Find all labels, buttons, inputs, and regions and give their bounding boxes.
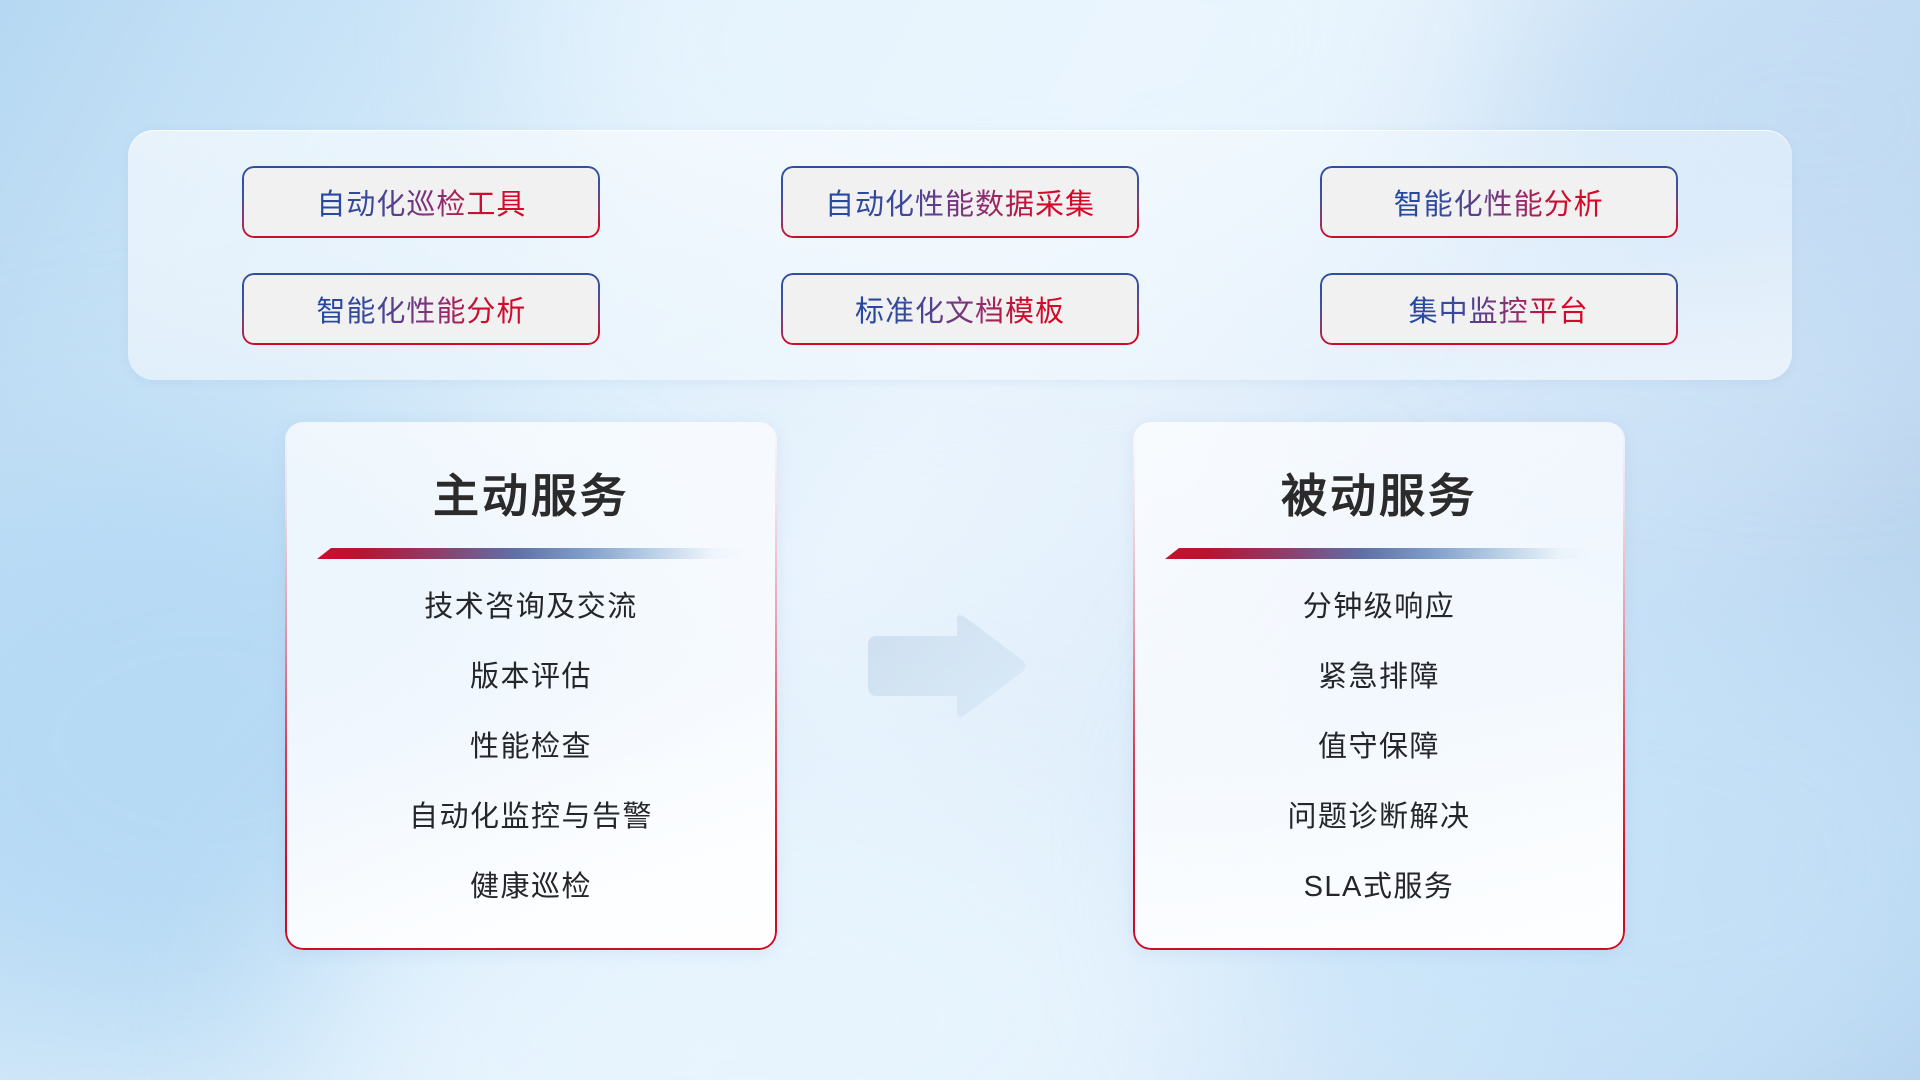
list-item: 分钟级响应 — [1133, 593, 1625, 622]
list-item: 值守保障 — [1133, 733, 1625, 762]
service-item-list: 技术咨询及交流 版本评估 性能检查 自动化监控与告警 健康巡检 — [285, 559, 777, 902]
capability-tag-label: 智能化性能分析 — [1394, 181, 1604, 223]
service-card-proactive[interactable]: 主动服务 技术咨询及交流 版本评估 性能检查 自动化监控与告警 健康巡检 — [285, 422, 777, 950]
capability-tag-label: 标准化文档模板 — [855, 288, 1065, 330]
capability-tag[interactable]: 自动化性能数据采集 — [781, 166, 1139, 238]
card-title: 主动服务 — [285, 422, 777, 526]
capability-tag[interactable]: 智能化性能分析 — [1320, 166, 1678, 238]
capability-tags-panel: 自动化巡检工具 自动化性能数据采集 智能化性能分析 智能化性能分析 标准化文档模… — [128, 130, 1792, 380]
capability-tag-label: 智能化性能分析 — [316, 288, 526, 330]
capability-tag[interactable]: 集中监控平台 — [1320, 273, 1678, 345]
title-divider — [1165, 548, 1593, 559]
list-item: SLA式服务 — [1133, 873, 1625, 902]
capability-tag[interactable]: 标准化文档模板 — [781, 273, 1139, 345]
list-item: 性能检查 — [285, 733, 777, 762]
list-item: 问题诊断解决 — [1133, 803, 1625, 832]
card-title: 被动服务 — [1133, 422, 1625, 526]
capability-tag[interactable]: 智能化性能分析 — [242, 273, 600, 345]
service-item-list: 分钟级响应 紧急排障 值守保障 问题诊断解决 SLA式服务 — [1133, 559, 1625, 902]
list-item: 紧急排障 — [1133, 663, 1625, 692]
capability-tag[interactable]: 自动化巡检工具 — [242, 166, 600, 238]
list-item: 健康巡检 — [285, 873, 777, 902]
service-card-reactive[interactable]: 被动服务 分钟级响应 紧急排障 值守保障 问题诊断解决 SLA式服务 — [1133, 422, 1625, 950]
capability-tag-label: 自动化性能数据采集 — [825, 181, 1095, 223]
slide-canvas: 自动化巡检工具 自动化性能数据采集 智能化性能分析 智能化性能分析 标准化文档模… — [0, 0, 1920, 1080]
list-item: 技术咨询及交流 — [285, 593, 777, 622]
title-divider — [317, 548, 745, 559]
capability-tag-label: 集中监控平台 — [1409, 288, 1589, 330]
arrow-right-icon — [862, 612, 1028, 720]
list-item: 自动化监控与告警 — [285, 803, 777, 832]
list-item: 版本评估 — [285, 663, 777, 692]
capability-tag-label: 自动化巡检工具 — [316, 181, 526, 223]
